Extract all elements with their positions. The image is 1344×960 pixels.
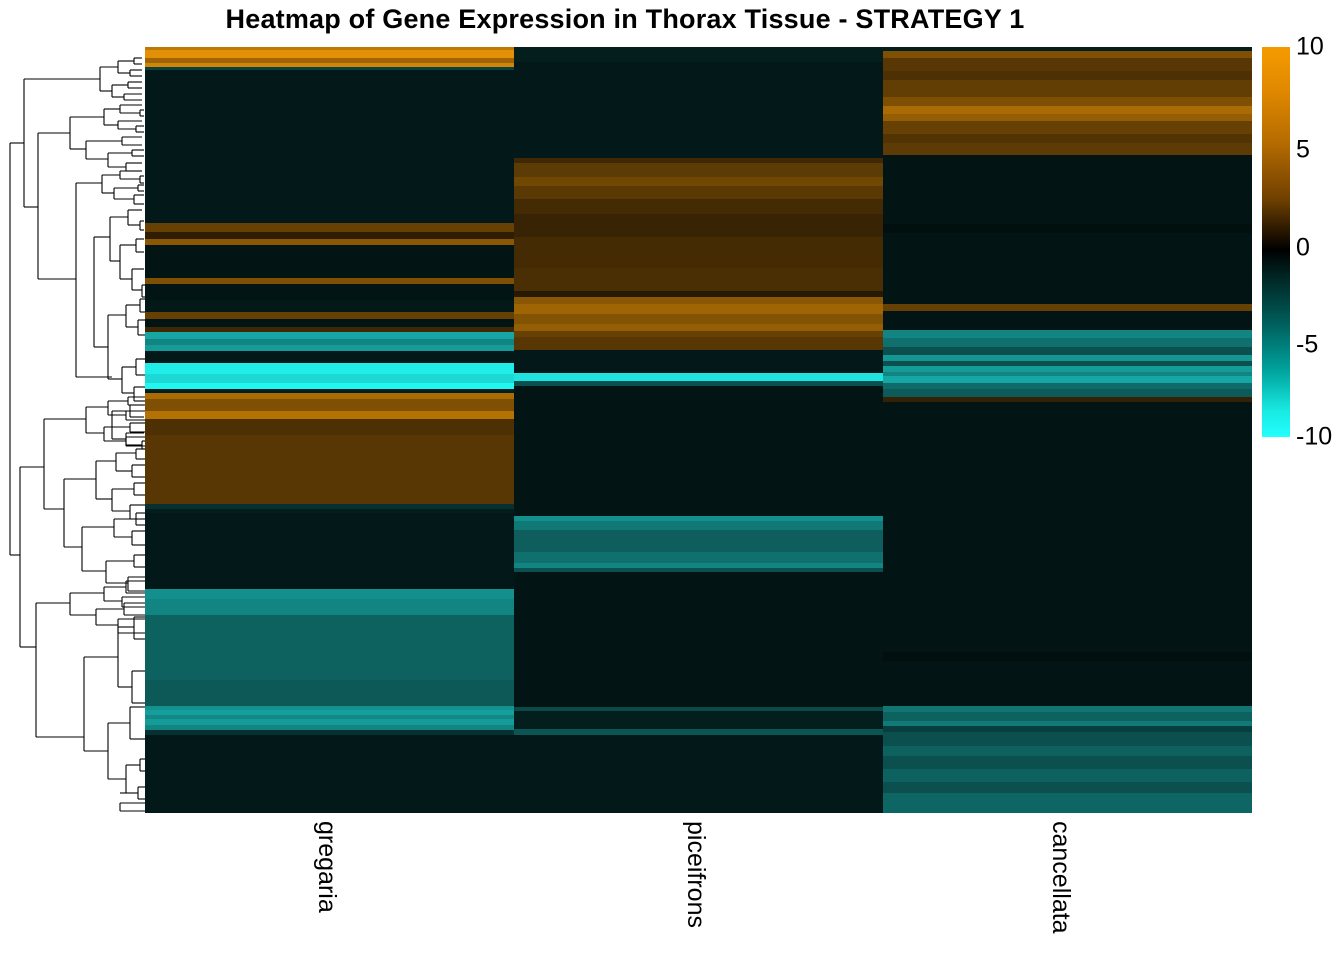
heatmap-band xyxy=(514,237,883,268)
heatmap-band xyxy=(514,163,883,177)
heatmap-band xyxy=(883,80,1252,97)
heatmap-band xyxy=(514,386,883,517)
heatmap-band xyxy=(883,311,1252,331)
heatmap-band xyxy=(883,746,1252,757)
heatmap-band xyxy=(145,245,514,278)
heatmap-grid xyxy=(145,47,1252,813)
heatmap-band xyxy=(514,199,883,215)
heatmap-band xyxy=(883,756,1252,769)
colorbar-gradient xyxy=(1262,47,1290,437)
heatmap-band xyxy=(514,268,883,292)
colorbar-tick-0: 0 xyxy=(1296,233,1310,262)
heatmap-band xyxy=(514,530,883,552)
heatmap-band xyxy=(145,363,514,374)
colorbar-tick-neg5: -5 xyxy=(1296,331,1318,360)
heatmap-band xyxy=(145,70,514,224)
heatmap-band xyxy=(883,143,1252,156)
heatmap-band xyxy=(883,402,1252,652)
colorbar-tick-neg10: -10 xyxy=(1296,423,1332,452)
heatmap-band xyxy=(883,121,1252,134)
heatmap-band xyxy=(145,284,514,300)
x-axis-tick-labels: gregaria piceifrons cancellata xyxy=(145,813,1252,953)
heatmap-band xyxy=(514,47,883,63)
heatmap-band xyxy=(514,337,883,351)
heatmap-band xyxy=(145,615,514,681)
heatmap-band xyxy=(514,314,883,325)
heatmap-band xyxy=(883,793,1252,813)
heatmap-band xyxy=(514,214,883,238)
heatmap-band xyxy=(514,62,883,158)
heatmap-band xyxy=(145,435,514,505)
heatmap-band xyxy=(883,732,1252,746)
heatmap-band xyxy=(145,599,514,616)
colorbar-tick-5: 5 xyxy=(1296,136,1310,165)
chart-title: Heatmap of Gene Expression in Thorax Tis… xyxy=(0,4,1250,35)
colorbar: 10 5 0 -5 -10 xyxy=(1262,47,1290,437)
heatmap-band xyxy=(514,735,883,813)
heatmap-column-piceifrons[interactable] xyxy=(514,47,883,813)
heatmap-column-gregaria[interactable] xyxy=(145,47,514,813)
x-tick-label-cancellata: cancellata xyxy=(1046,821,1075,934)
row-dendrogram xyxy=(8,47,145,813)
heatmap-band xyxy=(145,680,514,706)
x-tick-label-gregaria: gregaria xyxy=(312,821,341,913)
heatmap-band xyxy=(883,58,1252,71)
row-dendrogram-svg xyxy=(8,47,145,813)
heatmap-band xyxy=(145,735,514,813)
heatmap-column-cancellata[interactable] xyxy=(883,47,1252,813)
colorbar-tick-10: 10 xyxy=(1296,33,1324,62)
heatmap-band xyxy=(145,419,514,436)
heatmap-band xyxy=(514,186,883,199)
heatmap-band xyxy=(514,711,883,729)
heatmap-band xyxy=(514,552,883,563)
heatmap-band xyxy=(883,155,1252,225)
heatmap-band xyxy=(883,233,1252,305)
heatmap-band xyxy=(145,513,514,590)
heatmap-band xyxy=(145,351,514,364)
heatmap-band xyxy=(883,782,1252,793)
x-tick-label-piceifrons: piceifrons xyxy=(681,821,710,928)
heatmap-band xyxy=(883,769,1252,783)
heatmap-band xyxy=(883,661,1252,706)
heatmap-band xyxy=(514,350,883,374)
heatmap-band xyxy=(145,300,514,313)
heatmap-band xyxy=(514,572,883,707)
heatmap-band xyxy=(145,399,514,412)
